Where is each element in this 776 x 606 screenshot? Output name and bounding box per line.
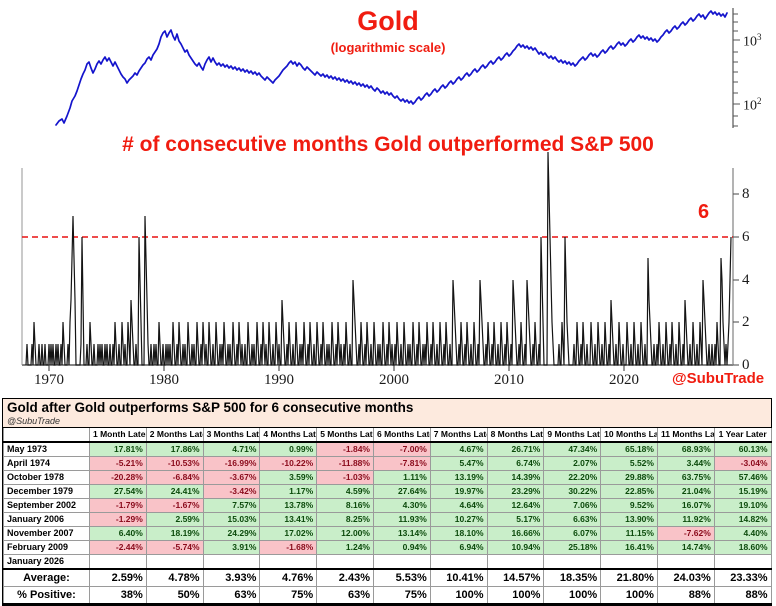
summary-cell: 2.59% — [90, 569, 147, 587]
return-cell: -11.88% — [317, 457, 374, 471]
return-cell: 1.24% — [317, 541, 374, 555]
summary-cell: 100% — [430, 587, 487, 605]
return-cell: -20.28% — [90, 471, 147, 485]
return-cell: -3.42% — [203, 485, 260, 499]
spike-xtick-1990: 1990 — [251, 372, 307, 389]
return-cell: 16.41% — [601, 541, 658, 555]
summary-cell: 3.93% — [203, 569, 260, 587]
spike-xtick-2020: 2020 — [596, 372, 652, 389]
return-cell: 17.81% — [90, 442, 147, 457]
infographic-root: Gold (logarithmic scale) # of consecutiv… — [0, 0, 776, 590]
return-cell: 6.07% — [544, 527, 601, 541]
charts-svg — [0, 0, 776, 396]
return-cell: 9.52% — [601, 499, 658, 513]
consecutive-months-line — [26, 152, 731, 365]
return-cell: 1.17% — [260, 485, 317, 499]
return-cell: 11.92% — [657, 513, 714, 527]
spike-xtick-1970: 1970 — [21, 372, 77, 389]
row-date-label: January 2026 — [4, 555, 90, 570]
return-cell: 7.06% — [544, 499, 601, 513]
table-row: February 2009-2.44%-5.74%3.91%-1.68%1.24… — [4, 541, 772, 555]
return-cell: 5.47% — [430, 457, 487, 471]
return-cell: 30.22% — [544, 485, 601, 499]
return-cell: 6.74% — [487, 457, 544, 471]
spike-xtick-1980: 1980 — [136, 372, 192, 389]
return-cell: 12.64% — [487, 499, 544, 513]
spike-y-ticks — [733, 194, 739, 365]
return-cell: -7.81% — [373, 457, 430, 471]
gold-chart-title: Gold — [0, 6, 776, 37]
return-cell: 4.64% — [430, 499, 487, 513]
return-cell: 1.11% — [373, 471, 430, 485]
summary-cell: 63% — [317, 587, 374, 605]
summary-cell: 63% — [203, 587, 260, 605]
return-cell: 22.20% — [544, 471, 601, 485]
summary-cell: 18.35% — [544, 569, 601, 587]
panel-handle: @SubuTrade — [7, 416, 767, 427]
return-cell: 19.97% — [430, 485, 487, 499]
table-row: May 197317.81%17.86%4.71%0.99%-1.84%-7.0… — [4, 442, 772, 457]
return-cell: 13.19% — [430, 471, 487, 485]
return-cell: -7.00% — [373, 442, 430, 457]
return-cell: -1.84% — [317, 442, 374, 457]
summary-row: % Positive:38%50%63%75%63%75%100%100%100… — [4, 587, 772, 605]
return-cell — [657, 555, 714, 570]
summary-cell: 2.43% — [317, 569, 374, 587]
return-cell: -1.67% — [146, 499, 203, 513]
return-cell: 2.07% — [544, 457, 601, 471]
return-cell: 63.75% — [657, 471, 714, 485]
spike-chart-title: # of consecutive months Gold outperforme… — [0, 133, 776, 157]
return-cell: 8.25% — [317, 513, 374, 527]
spike-xtick-2010: 2010 — [481, 372, 537, 389]
return-cell: 13.90% — [601, 513, 658, 527]
return-cell: 60.13% — [714, 442, 771, 457]
return-cell: -1.79% — [90, 499, 147, 513]
row-date-label: September 2002 — [4, 499, 90, 513]
return-cell: -2.44% — [90, 541, 147, 555]
spike-ytick-2: 2 — [742, 314, 758, 331]
col-header-3m: 3 Months Later — [203, 428, 260, 442]
charts-area: Gold (logarithmic scale) # of consecutiv… — [0, 0, 776, 396]
return-cell: 4.59% — [317, 485, 374, 499]
results-panel: Gold after Gold outperforms S&P 500 for … — [2, 398, 772, 606]
return-cell: 3.91% — [203, 541, 260, 555]
col-header-1m: 1 Month Later — [90, 428, 147, 442]
return-cell — [260, 555, 317, 570]
return-cell: 0.94% — [373, 541, 430, 555]
col-header-9m: 9 Months Later — [544, 428, 601, 442]
return-cell: 23.29% — [487, 485, 544, 499]
panel-header: Gold after Gold outperforms S&P 500 for … — [3, 399, 771, 428]
row-date-label: February 2009 — [4, 541, 90, 555]
col-header-10m: 10 Months Later — [601, 428, 658, 442]
table-row: October 1978-20.28%-6.84%-3.67%3.59%-1.0… — [4, 471, 772, 485]
return-cell: 15.19% — [714, 485, 771, 499]
row-date-label: April 1974 — [4, 457, 90, 471]
row-date-label: December 1979 — [4, 485, 90, 499]
summary-cell: 5.53% — [373, 569, 430, 587]
return-cell — [487, 555, 544, 570]
return-cell: 19.10% — [714, 499, 771, 513]
col-header-6m: 6 Months Later — [373, 428, 430, 442]
col-header-1y: 1 Year Later — [714, 428, 771, 442]
return-cell: -3.04% — [714, 457, 771, 471]
return-cell: 47.34% — [544, 442, 601, 457]
return-cell: 6.63% — [544, 513, 601, 527]
summary-label: % Positive: — [4, 587, 90, 605]
spike-x-ticks — [49, 365, 624, 371]
summary-cell: 75% — [260, 587, 317, 605]
return-cell: 6.40% — [90, 527, 147, 541]
return-cell: 13.78% — [260, 499, 317, 513]
summary-cell: 100% — [487, 587, 544, 605]
summary-cell: 88% — [657, 587, 714, 605]
return-cell: 3.59% — [260, 471, 317, 485]
summary-cell: 10.41% — [430, 569, 487, 587]
summary-cell: 88% — [714, 587, 771, 605]
col-header-5m: 5 Months Later — [317, 428, 374, 442]
return-cell: -10.53% — [146, 457, 203, 471]
return-cell: 18.19% — [146, 527, 203, 541]
return-cell: -16.99% — [203, 457, 260, 471]
summary-cell: 100% — [544, 587, 601, 605]
col-header-2m: 2 Months Later — [146, 428, 203, 442]
spike-ytick-6: 6 — [742, 229, 758, 246]
return-cell: -5.74% — [146, 541, 203, 555]
table-row: December 197927.54%24.41%-3.42%1.17%4.59… — [4, 485, 772, 499]
summary-cell: 38% — [90, 587, 147, 605]
return-cell: 27.54% — [90, 485, 147, 499]
return-cell: 10.27% — [430, 513, 487, 527]
summary-cell: 23.33% — [714, 569, 771, 587]
return-cell — [317, 555, 374, 570]
return-cell: 13.14% — [373, 527, 430, 541]
return-cell: 17.02% — [260, 527, 317, 541]
return-cell — [90, 555, 147, 570]
gold-chart-subtitle: (logarithmic scale) — [0, 40, 776, 55]
return-cell: 11.93% — [373, 513, 430, 527]
return-cell: 29.88% — [601, 471, 658, 485]
return-cell: 15.03% — [203, 513, 260, 527]
table-corner-cell — [4, 428, 90, 442]
return-cell: 14.39% — [487, 471, 544, 485]
return-cell: -10.22% — [260, 457, 317, 471]
col-header-11m: 11 Months Later — [657, 428, 714, 442]
summary-row: Average:2.59%4.78%3.93%4.76%2.43%5.53%10… — [4, 569, 772, 587]
return-cell: 14.82% — [714, 513, 771, 527]
return-cell: 57.46% — [714, 471, 771, 485]
returns-table: 1 Month Later 2 Months Later 3 Months La… — [3, 428, 772, 605]
return-cell: -3.67% — [203, 471, 260, 485]
spike-ytick-4: 4 — [742, 272, 758, 289]
return-cell: 3.44% — [657, 457, 714, 471]
gold-ytick-1e3: 103 — [743, 32, 762, 51]
return-cell: 12.00% — [317, 527, 374, 541]
summary-label: Average: — [4, 569, 90, 587]
return-cell: 2.59% — [146, 513, 203, 527]
return-cell — [601, 555, 658, 570]
return-cell: -1.03% — [317, 471, 374, 485]
col-header-7m: 7 Months Later — [430, 428, 487, 442]
summary-cell: 50% — [146, 587, 203, 605]
table-row: November 20076.40%18.19%24.29%17.02%12.0… — [4, 527, 772, 541]
return-cell: -1.68% — [260, 541, 317, 555]
gold-ytick-1e2: 102 — [743, 96, 762, 115]
return-cell: 65.18% — [601, 442, 658, 457]
return-cell: 24.29% — [203, 527, 260, 541]
return-cell: 0.99% — [260, 442, 317, 457]
row-date-label: October 1978 — [4, 471, 90, 485]
chart-watermark: @SubuTrade — [672, 370, 764, 387]
return-cell — [373, 555, 430, 570]
return-cell: 18.60% — [714, 541, 771, 555]
return-cell — [146, 555, 203, 570]
row-date-label: January 2006 — [4, 513, 90, 527]
return-cell: 27.64% — [373, 485, 430, 499]
spike-xtick-2000: 2000 — [366, 372, 422, 389]
return-cell: 22.85% — [601, 485, 658, 499]
table-body: May 197317.81%17.86%4.71%0.99%-1.84%-7.0… — [4, 442, 772, 604]
return-cell: 6.94% — [430, 541, 487, 555]
return-cell: 14.74% — [657, 541, 714, 555]
table-row: September 2002-1.79%-1.67%7.57%13.78%8.1… — [4, 499, 772, 513]
return-cell: 11.15% — [601, 527, 658, 541]
row-date-label: May 1973 — [4, 442, 90, 457]
summary-cell: 4.78% — [146, 569, 203, 587]
return-cell: 18.10% — [430, 527, 487, 541]
return-cell: 4.30% — [373, 499, 430, 513]
summary-cell: 21.80% — [601, 569, 658, 587]
return-cell: -6.84% — [146, 471, 203, 485]
threshold-annotation-6: 6 — [698, 201, 709, 224]
return-cell: 16.07% — [657, 499, 714, 513]
return-cell: 5.52% — [601, 457, 658, 471]
return-cell: 24.41% — [146, 485, 203, 499]
return-cell: 4.71% — [203, 442, 260, 457]
return-cell: 16.66% — [487, 527, 544, 541]
return-cell — [203, 555, 260, 570]
return-cell — [714, 555, 771, 570]
return-cell: 25.18% — [544, 541, 601, 555]
table-row: January 2006-1.29%2.59%15.03%13.41%8.25%… — [4, 513, 772, 527]
summary-cell: 100% — [601, 587, 658, 605]
return-cell: 4.67% — [430, 442, 487, 457]
return-cell: 4.40% — [714, 527, 771, 541]
return-cell: 26.71% — [487, 442, 544, 457]
table-row: April 1974-5.21%-10.53%-16.99%-10.22%-11… — [4, 457, 772, 471]
row-date-label: November 2007 — [4, 527, 90, 541]
col-header-4m: 4 Months Later — [260, 428, 317, 442]
summary-cell: 14.57% — [487, 569, 544, 587]
col-header-8m: 8 Months Later — [487, 428, 544, 442]
return-cell: 5.17% — [487, 513, 544, 527]
panel-title: Gold after Gold outperforms S&P 500 for … — [7, 400, 767, 416]
return-cell: 68.93% — [657, 442, 714, 457]
return-cell: 10.94% — [487, 541, 544, 555]
spike-ytick-8: 8 — [742, 186, 758, 203]
return-cell: 7.57% — [203, 499, 260, 513]
summary-cell: 4.76% — [260, 569, 317, 587]
return-cell: -5.21% — [90, 457, 147, 471]
summary-cell: 75% — [373, 587, 430, 605]
return-cell: 21.04% — [657, 485, 714, 499]
return-cell: -7.62% — [657, 527, 714, 541]
return-cell: 13.41% — [260, 513, 317, 527]
return-cell — [544, 555, 601, 570]
return-cell: 8.16% — [317, 499, 374, 513]
table-row: January 2026 — [4, 555, 772, 570]
return-cell: -1.29% — [90, 513, 147, 527]
table-header-row: 1 Month Later 2 Months Later 3 Months La… — [4, 428, 772, 442]
return-cell — [430, 555, 487, 570]
summary-cell: 24.03% — [657, 569, 714, 587]
return-cell: 17.86% — [146, 442, 203, 457]
